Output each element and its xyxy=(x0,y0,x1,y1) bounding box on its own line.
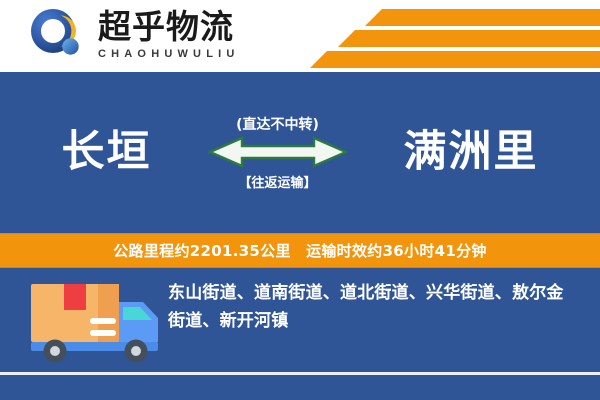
brand-name-cn: 超乎物流 xyxy=(98,10,240,45)
divider-line xyxy=(0,372,600,375)
roundtrip-label: 【往返运输】 xyxy=(238,172,316,191)
coverage-area-panel: 东山街道、道南街道、道北街道、兴华街道、敖尔金街道、新开河镇 xyxy=(0,268,600,400)
destination-city: 满洲里 xyxy=(359,131,584,174)
coverage-areas-text: 东山街道、道南街道、道北街道、兴华街道、敖尔金街道、新开河镇 xyxy=(168,280,573,335)
route-arrow-group: (直达不中转) 【往返运输】 xyxy=(203,93,353,213)
brand-logo-group: 超乎物流 CHAOHUWULIU xyxy=(30,8,240,64)
distance-duration-text: 公路里程约2201.35公里 运输时效约36小时41分钟 xyxy=(113,240,486,261)
double-headed-arrow-icon xyxy=(208,136,348,168)
circle-q-logo-icon xyxy=(30,8,90,64)
logistics-route-banner: 超乎物流 CHAOHUWULIU 长垣 (直达不中转) 【往返运输】 xyxy=(0,0,600,400)
distance-duration-bar: 公路里程约2201.35公里 运输时效约36小时41分钟 xyxy=(0,233,600,268)
route-panel: 长垣 (直达不中转) 【往返运输】 满洲里 xyxy=(0,72,600,233)
brand-text-group: 超乎物流 CHAOHUWULIU xyxy=(98,10,240,62)
stripe-1 xyxy=(365,9,600,26)
banner-header: 超乎物流 CHAOHUWULIU xyxy=(0,0,600,72)
slanted-stripes-decoration xyxy=(310,0,600,72)
delivery-truck-icon xyxy=(28,280,168,365)
brand-name-pinyin: CHAOHUWULIU xyxy=(98,46,240,63)
origin-city: 长垣 xyxy=(17,131,197,174)
stripe-3 xyxy=(310,51,600,68)
direct-shipping-label: (直达不中转) xyxy=(236,114,319,134)
stripe-2 xyxy=(338,30,600,47)
